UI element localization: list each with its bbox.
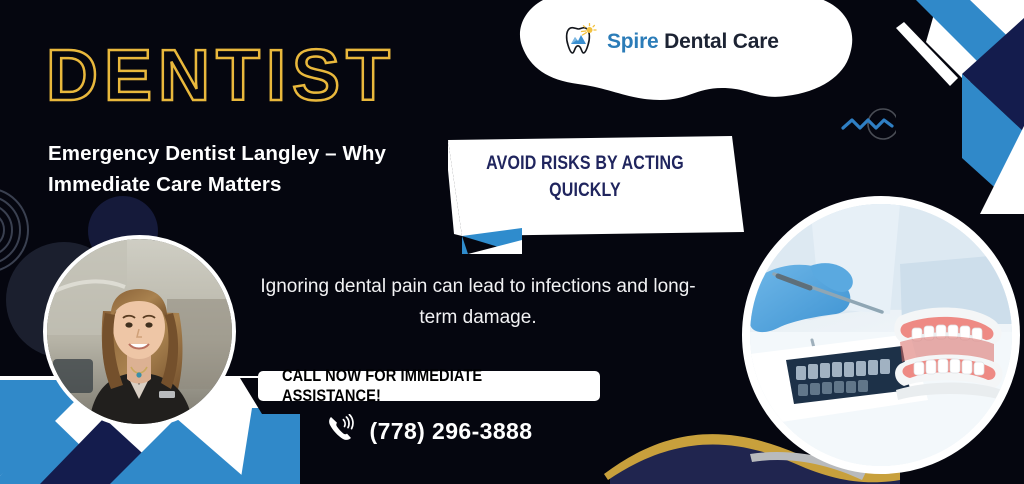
subtitle: Emergency Dentist Langley – Why Immediat… — [48, 138, 438, 200]
ringing-phone-icon — [326, 414, 358, 449]
ribbon-headline: AVOID RISKS BY ACTING QUICKLY — [483, 150, 688, 204]
corner-geometry-top-right — [896, 0, 1024, 214]
ribbon-line-two: QUICKLY — [483, 177, 688, 204]
phone-number[interactable]: (778) 296-3888 — [370, 418, 533, 445]
phone-cta[interactable]: (778) 296-3888 — [258, 414, 600, 449]
dental-treatment-photo — [742, 196, 1020, 474]
brand-name-secondary: Dental Care — [664, 30, 779, 53]
brand-name: Spire Dental Care — [607, 30, 779, 54]
body-paragraph: Ignoring dental pain can lead to infecti… — [243, 272, 713, 334]
dental-care-promo-banner: DENTIST Emergency Dentist Langley – Why … — [0, 0, 1024, 484]
page-title: DENTIST — [46, 40, 396, 112]
ribbon-line-one: AVOID RISKS BY ACTING — [483, 150, 688, 177]
brand-logo[interactable]: Spire Dental Care — [560, 20, 779, 63]
cta-label: CALL NOW FOR IMMEDIATE ASSISTANCE! — [282, 366, 576, 406]
brand-name-primary: Spire — [607, 30, 659, 53]
avatar — [43, 235, 236, 428]
tooth-mountain-sun-icon — [560, 20, 598, 63]
cta-banner[interactable]: CALL NOW FOR IMMEDIATE ASSISTANCE! — [258, 371, 600, 401]
